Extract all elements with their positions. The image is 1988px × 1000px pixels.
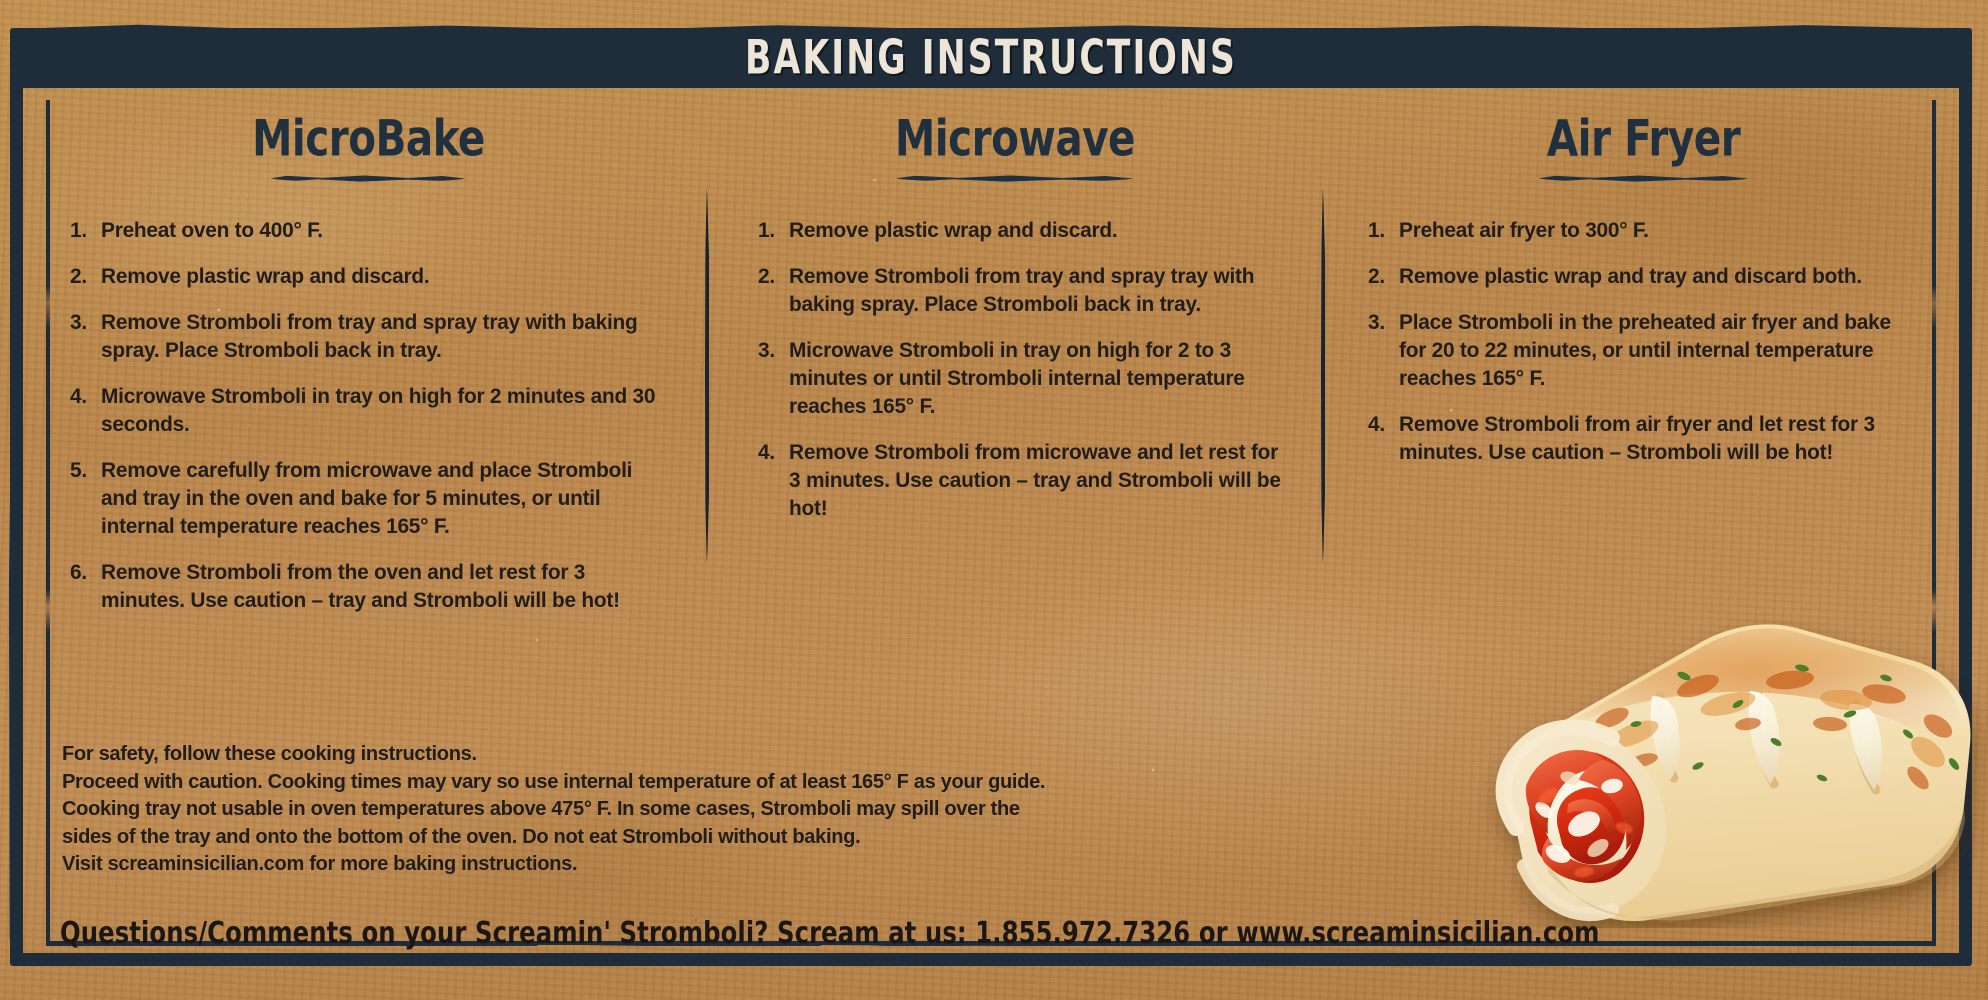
- step-text: Remove Stromboli from the oven and let r…: [101, 560, 620, 612]
- step-item: 4.Microwave Stromboli in tray on high fo…: [70, 382, 672, 438]
- heading-underline-swash: [271, 174, 466, 182]
- step-text: Remove Stromboli from microwave and let …: [789, 440, 1281, 520]
- step-number: 2.: [1368, 262, 1385, 290]
- safety-notice: For safety, follow these cooking instruc…: [62, 740, 1307, 878]
- instructions-column-microwave: Microwave 1.Remove plastic wrap and disc…: [742, 112, 1302, 540]
- step-text: Remove plastic wrap and discard.: [789, 218, 1117, 242]
- heading-underline-swash: [896, 174, 1134, 182]
- step-item: 2.Remove Stromboli from tray and spray t…: [758, 262, 1286, 318]
- step-number: 1.: [70, 216, 87, 244]
- contact-info-line: Questions/Comments on your Screamin' Str…: [60, 916, 1600, 951]
- step-text: Remove carefully from microwave and plac…: [101, 458, 632, 538]
- step-list-microwave: 1.Remove plastic wrap and discard. 2.Rem…: [742, 216, 1302, 522]
- page-title: BAKING INSTRUCTIONS: [61, 31, 1921, 85]
- column-heading-label: MicroBake: [252, 109, 485, 167]
- instructions-column-airfryer: Air Fryer 1.Preheat air fryer to 300° F.…: [1360, 112, 1935, 484]
- safety-line: Cooking tray not usable in oven temperat…: [62, 795, 1307, 823]
- safety-line: For safety, follow these cooking instruc…: [62, 740, 1307, 768]
- column-heading-label: Air Fryer: [1547, 109, 1740, 167]
- safety-line: sides of the tray and onto the bottom of…: [62, 823, 1307, 851]
- step-item: 4.Remove Stromboli from microwave and le…: [758, 438, 1286, 522]
- safety-line: Visit screaminsicilian.com for more baki…: [62, 850, 1307, 878]
- step-text: Remove Stromboli from tray and spray tra…: [101, 310, 637, 362]
- step-item: 3.Remove Stromboli from tray and spray t…: [70, 308, 672, 364]
- step-text: Remove plastic wrap and discard.: [101, 264, 429, 288]
- instructions-column-microbake: MicroBake 1.Preheat oven to 400° F. 2.Re…: [46, 112, 691, 632]
- step-item: 6.Remove Stromboli from the oven and let…: [70, 558, 672, 614]
- step-number: 4.: [1368, 410, 1385, 438]
- step-item: 4.Remove Stromboli from air fryer and le…: [1368, 410, 1918, 466]
- step-text: Remove Stromboli from tray and spray tra…: [789, 264, 1254, 316]
- column-divider-1: [705, 188, 709, 563]
- step-text: Microwave Stromboli in tray on high for …: [789, 338, 1245, 418]
- column-heading-airfryer: Air Fryer: [1360, 112, 1935, 182]
- step-item: 1.Remove plastic wrap and discard.: [758, 216, 1286, 244]
- step-number: 2.: [70, 262, 87, 290]
- step-item: 3.Microwave Stromboli in tray on high fo…: [758, 336, 1286, 420]
- header-band: BAKING INSTRUCTIONS: [22, 28, 1960, 88]
- column-divider-2: [1321, 188, 1325, 563]
- step-number: 4.: [70, 382, 87, 410]
- baking-instructions-label: BAKING INSTRUCTIONS MicroBake 1.Preheat …: [0, 0, 1988, 1000]
- step-number: 6.: [70, 558, 87, 586]
- step-text: Place Stromboli in the preheated air fry…: [1399, 310, 1891, 390]
- step-text: Remove plastic wrap and tray and discard…: [1399, 264, 1862, 288]
- step-item: 5.Remove carefully from microwave and pl…: [70, 456, 672, 540]
- step-text: Preheat air fryer to 300° F.: [1399, 218, 1649, 242]
- step-text: Preheat oven to 400° F.: [101, 218, 323, 242]
- column-heading-microwave: Microwave: [742, 112, 1302, 182]
- step-number: 1.: [1368, 216, 1385, 244]
- step-number: 4.: [758, 438, 775, 466]
- column-heading-microbake: MicroBake: [46, 112, 691, 182]
- step-number: 2.: [758, 262, 775, 290]
- frame-rough-edge-right: [1965, 40, 1972, 940]
- step-list-airfryer: 1.Preheat air fryer to 300° F. 2.Remove …: [1360, 216, 1935, 466]
- step-item: 2.Remove plastic wrap and discard.: [70, 262, 672, 290]
- step-list-microbake: 1.Preheat oven to 400° F. 2.Remove plast…: [46, 216, 691, 614]
- frame-rough-edge-bottom: [20, 957, 1964, 964]
- step-text: Microwave Stromboli in tray on high for …: [101, 384, 655, 436]
- step-number: 5.: [70, 456, 87, 484]
- step-item: 1.Preheat air fryer to 300° F.: [1368, 216, 1918, 244]
- step-item: 1.Preheat oven to 400° F.: [70, 216, 672, 244]
- heading-underline-swash: [1539, 174, 1749, 182]
- step-number: 1.: [758, 216, 775, 244]
- stromboli-product-photo: [1398, 528, 1988, 928]
- frame-rough-edge-left: [9, 40, 16, 940]
- step-item: 3.Place Stromboli in the preheated air f…: [1368, 308, 1918, 392]
- step-number: 3.: [70, 308, 87, 336]
- safety-line: Proceed with caution. Cooking times may …: [62, 768, 1307, 796]
- step-number: 3.: [1368, 308, 1385, 336]
- step-item: 2.Remove plastic wrap and tray and disca…: [1368, 262, 1918, 290]
- step-number: 3.: [758, 336, 775, 364]
- column-heading-label: Microwave: [895, 109, 1135, 167]
- step-text: Remove Stromboli from air fryer and let …: [1399, 412, 1875, 464]
